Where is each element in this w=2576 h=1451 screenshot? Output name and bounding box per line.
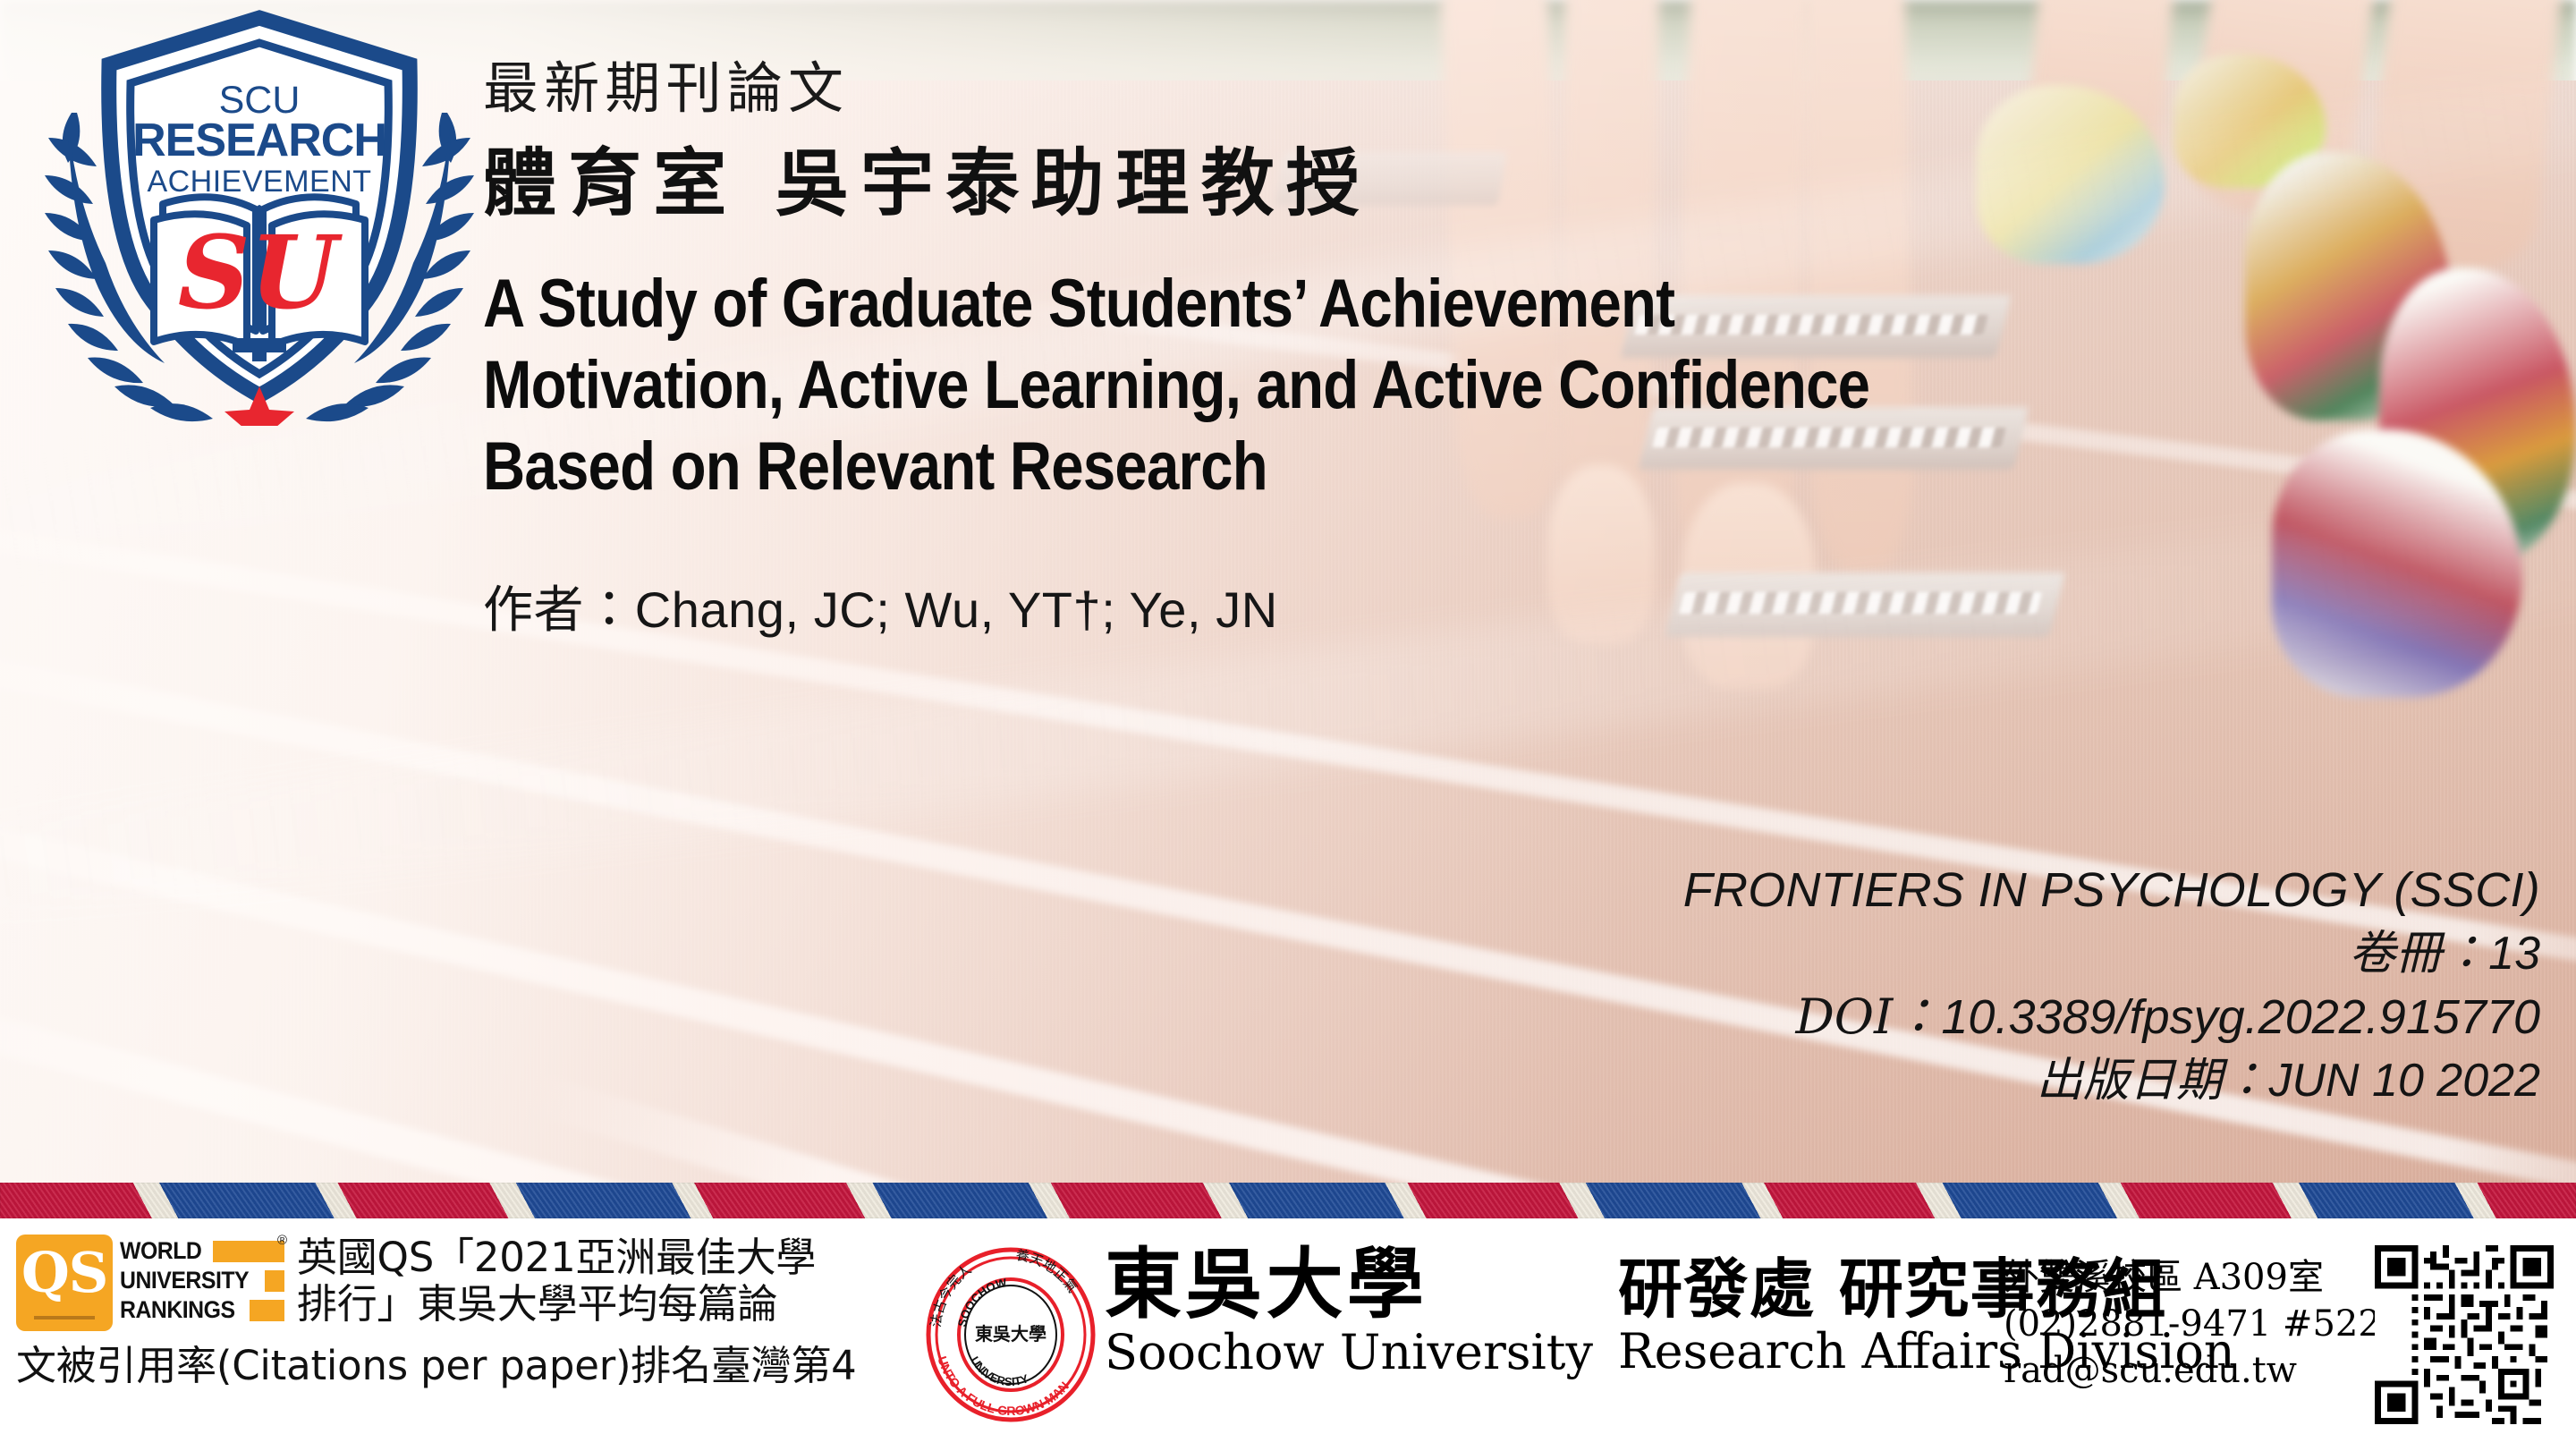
scu-research-achievement-badge: SCU RESEARCH ACHIEVEMENT SU <box>9 5 510 426</box>
pubdate-label: 出版日期： <box>2036 1054 2268 1107</box>
registered-trademark-icon: ® <box>277 1233 287 1248</box>
soochow-university-seal: 法古今完人 養天地正氣 SOOCHOW UNIVERSITY 東吳大學 <box>926 1247 1096 1422</box>
qs-caption-line-1: 英國QS「2021亞洲最佳大學 <box>297 1235 816 1281</box>
qs-word-2: UNIVERSITY <box>120 1267 249 1294</box>
paper-title: A Study of Graduate Students’ Achievemen… <box>483 263 1883 508</box>
authors-value: Chang, JC; Wu, YT†; Ye, JN <box>635 581 1278 638</box>
authors-label: 作者： <box>483 581 635 640</box>
department-and-author-heading: 體育室 吳宇泰助理教授 <box>483 140 2540 227</box>
qs-caption-line-2: 排行」東吳大學平均每篇論 <box>297 1281 816 1328</box>
journal-doi-line: DOI：10.3389/fpsyg.2022.915770 <box>483 985 2540 1050</box>
journal-volume-line: 卷冊：13 <box>483 923 2540 985</box>
volume-label: 卷冊： <box>2349 927 2488 980</box>
journal-metadata-block: FRONTIERS IN PSYCHOLOGY (SSCI) 卷冊：13 DOI… <box>483 859 2540 1112</box>
qs-wordmark: WORLD UNIVERSITY RANKINGS <box>120 1236 284 1325</box>
qs-mark-text: QS <box>16 1238 113 1308</box>
doi-label: DOI： <box>1795 989 1941 1045</box>
qs-word-1: WORLD <box>120 1237 201 1265</box>
badge-monogram: SU <box>178 215 343 332</box>
qs-word-world: WORLD <box>120 1236 284 1266</box>
qs-word-3: RANKINGS <box>120 1296 235 1324</box>
qs-word-university: UNIVERSITY <box>120 1266 284 1295</box>
poster-root: SCU RESEARCH ACHIEVEMENT SU 最新期刊論文 體育室 吳… <box>0 0 2576 1451</box>
qs-mark-rule <box>34 1316 95 1319</box>
journal-name: FRONTIERS IN PSYCHOLOGY (SSCI) <box>483 859 2540 923</box>
university-identity-block: 東吳大學 Soochow University 研發處 研究事務組 Resear… <box>1105 1245 1999 1378</box>
authors-line: 作者：Chang, JC; Wu, YT†; Ye, JN <box>483 570 2540 642</box>
doi-value: 10.3389/fpsyg.2022.915770 <box>1941 990 2540 1044</box>
pubdate-value: JUN 10 2022 <box>2268 1055 2540 1107</box>
qs-bar <box>265 1270 284 1292</box>
badge-line-research: RESEARCH <box>132 115 386 166</box>
qr-code-icon[interactable] <box>2375 1245 2554 1424</box>
badge-line-achievement: ACHIEVEMENT <box>147 165 371 199</box>
badge-star-icon <box>225 386 294 426</box>
kicker-label: 最新期刊論文 <box>483 54 2540 123</box>
qs-word-rankings: RANKINGS <box>120 1295 284 1325</box>
footer-bar: QS WORLD UNIVERSITY RANKINGS <box>0 1218 2576 1451</box>
university-name-group: 東吳大學 Soochow University <box>1105 1245 1593 1378</box>
university-name-cn: 東吳大學 <box>1105 1245 1593 1324</box>
qs-world-university-rankings-logo: QS WORLD UNIVERSITY RANKINGS <box>16 1235 284 1331</box>
qs-caption: 英國QS「2021亞洲最佳大學 排行」東吳大學平均每篇論 <box>297 1235 816 1328</box>
university-name-en: Soochow University <box>1105 1328 1593 1379</box>
qs-caption-line-3: 文被引用率(Citations per paper)排名臺灣第4 <box>16 1333 902 1391</box>
hero-text-block: 最新期刊論文 體育室 吳宇泰助理教授 A Study of Graduate S… <box>483 54 2540 642</box>
qs-bar <box>213 1241 284 1262</box>
journal-pubdate-line: 出版日期：JUN 10 2022 <box>483 1050 2540 1112</box>
decorative-ribbon-texture <box>0 1183 2576 1218</box>
qs-ranking-block: QS WORLD UNIVERSITY RANKINGS <box>16 1235 902 1391</box>
volume-value: 13 <box>2488 928 2540 980</box>
qs-bar <box>250 1300 284 1321</box>
qs-mark: QS <box>16 1235 113 1331</box>
seal-center-cjk: 東吳大學 <box>975 1323 1046 1345</box>
